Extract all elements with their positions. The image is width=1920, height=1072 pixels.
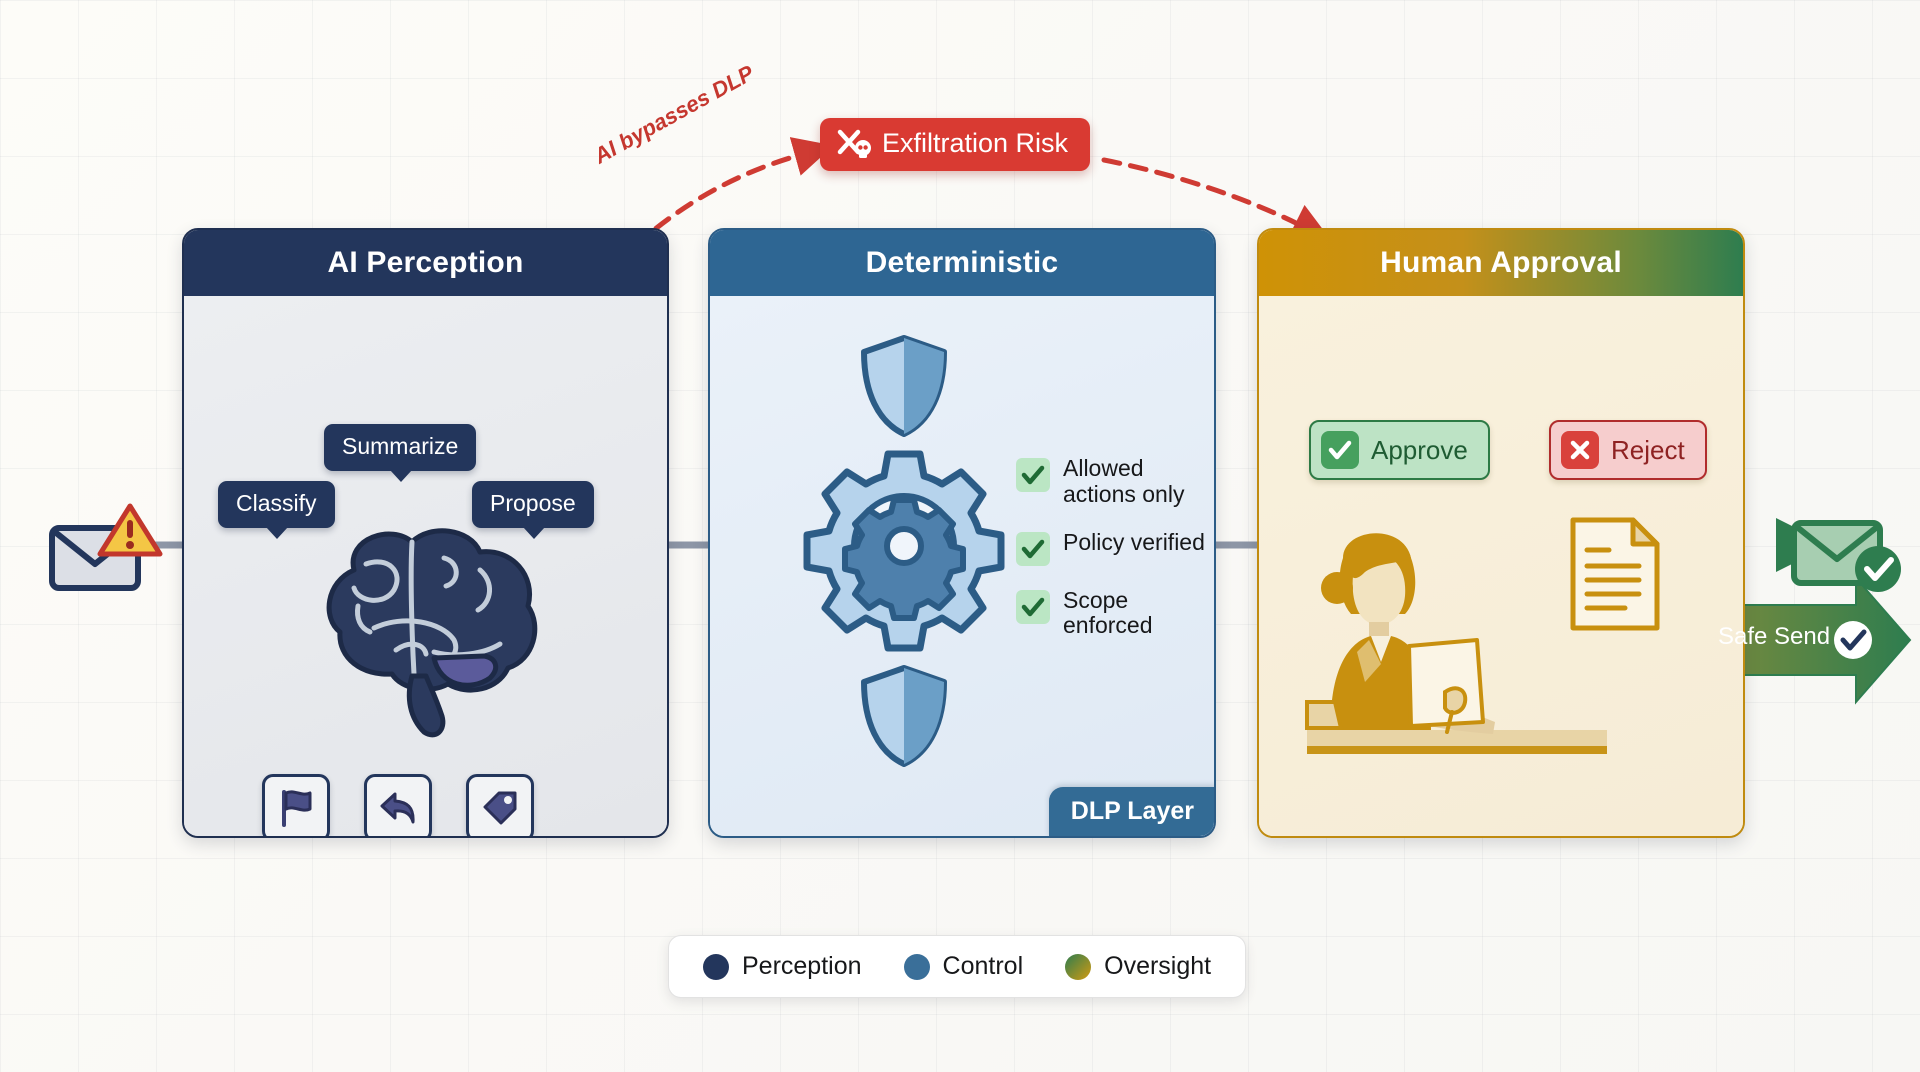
envelope-check-icon bbox=[1790, 505, 1910, 601]
shield-icon bbox=[858, 664, 950, 769]
dlp-layer-badge[interactable]: DLP Layer bbox=[1049, 787, 1216, 838]
legend-dot-oversight bbox=[1065, 954, 1091, 980]
tag-icon bbox=[482, 790, 518, 826]
panel-header-ai-perception: AI Perception bbox=[184, 230, 667, 296]
document-icon bbox=[1569, 516, 1661, 632]
gear-icon bbox=[806, 448, 1002, 644]
safe-send-label: Safe Send bbox=[1718, 623, 1830, 651]
legend-label-control: Control bbox=[943, 952, 1024, 981]
flag-action-tile[interactable] bbox=[262, 774, 330, 838]
legend-item-oversight: Oversight bbox=[1065, 952, 1211, 981]
reject-button-label: Reject bbox=[1611, 435, 1685, 466]
approve-button-label: Approve bbox=[1371, 435, 1468, 466]
approve-button[interactable]: Approve bbox=[1309, 420, 1490, 480]
panel-header-human-approval: Human Approval bbox=[1259, 230, 1743, 296]
diagram-canvas: Exfiltration Risk AI bypasses DLP AI Per… bbox=[0, 0, 1920, 1072]
check-label: Allowed actions only bbox=[1063, 456, 1206, 508]
risk-path-in bbox=[1104, 160, 1300, 225]
check-icon bbox=[1016, 458, 1050, 492]
bubble-summarize[interactable]: Summarize bbox=[324, 424, 476, 471]
status-badge-exfiltration-risk[interactable]: Exfiltration Risk bbox=[820, 118, 1090, 171]
panel-body-ai-perception: Classify Summarize Propose bbox=[184, 296, 667, 836]
check-label: Scope enforced bbox=[1063, 588, 1206, 640]
legend-dot-perception bbox=[703, 954, 729, 980]
reply-action-tile[interactable] bbox=[364, 774, 432, 838]
policy-check-list: Allowed actions only Policy verified Sco… bbox=[1016, 456, 1206, 661]
check-icon bbox=[1016, 532, 1050, 566]
tag-action-tile[interactable] bbox=[466, 774, 534, 838]
legend-label-oversight: Oversight bbox=[1104, 952, 1211, 981]
x-skull-icon bbox=[838, 129, 872, 159]
panel-body-deterministic: Allowed actions only Policy verified Sco… bbox=[710, 296, 1214, 836]
check-icon bbox=[1321, 431, 1359, 469]
risk-badge-label: Exfiltration Risk bbox=[882, 128, 1068, 159]
legend-dot-control bbox=[904, 954, 930, 980]
panel-header-deterministic: Deterministic bbox=[710, 230, 1214, 296]
risk-path-label: AI bypasses DLP bbox=[590, 60, 759, 169]
legend-item-perception: Perception bbox=[703, 952, 862, 981]
legend: Perception Control Oversight bbox=[668, 935, 1246, 998]
check-label: Policy verified bbox=[1063, 530, 1205, 556]
envelope-warning-icon bbox=[46, 500, 166, 596]
shield-icon bbox=[858, 334, 950, 439]
reject-button[interactable]: Reject bbox=[1549, 420, 1707, 480]
flag-icon bbox=[278, 789, 314, 827]
reply-icon bbox=[379, 791, 417, 825]
legend-label-perception: Perception bbox=[742, 952, 862, 981]
brain-icon bbox=[284, 518, 556, 743]
panel-body-human-approval: Approve Reject bbox=[1259, 296, 1743, 836]
list-item: Allowed actions only bbox=[1016, 456, 1206, 508]
list-item: Scope enforced bbox=[1016, 588, 1206, 640]
panel-human-approval[interactable]: Human Approval Approve Reject bbox=[1257, 228, 1745, 838]
legend-item-control: Control bbox=[904, 952, 1024, 981]
panel-deterministic[interactable]: Deterministic Al bbox=[708, 228, 1216, 838]
check-icon bbox=[1016, 590, 1050, 624]
x-icon bbox=[1561, 431, 1599, 469]
list-item: Policy verified bbox=[1016, 530, 1206, 566]
panel-ai-perception[interactable]: AI Perception Classify Summarize Propose bbox=[182, 228, 669, 838]
